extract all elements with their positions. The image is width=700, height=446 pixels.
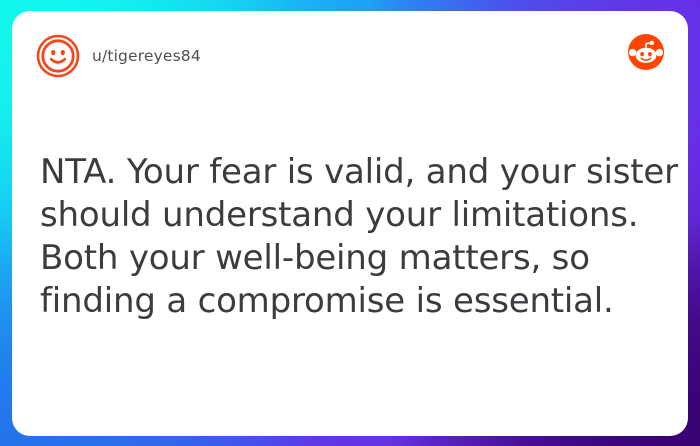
- reddit-snoo-icon[interactable]: [628, 34, 664, 70]
- reddit-comment-card: u/tigereyes84: [12, 11, 688, 436]
- card-header: u/tigereyes84: [12, 11, 688, 83]
- comment-text: NTA. Your fear is valid, and your sister…: [40, 151, 656, 323]
- username-label: u/tigereyes84: [92, 47, 201, 65]
- comment-text-line: should understand your limitations.: [40, 194, 656, 237]
- comment-text-line: finding a compromise is essential.: [40, 280, 656, 323]
- comment-text-line: NTA. Your fear is valid, and your sister: [40, 151, 656, 194]
- screenshot-root: u/tigereyes84: [0, 0, 700, 446]
- avatar[interactable]: [36, 34, 80, 78]
- comment-text-line: Both your well-being matters, so: [40, 237, 656, 280]
